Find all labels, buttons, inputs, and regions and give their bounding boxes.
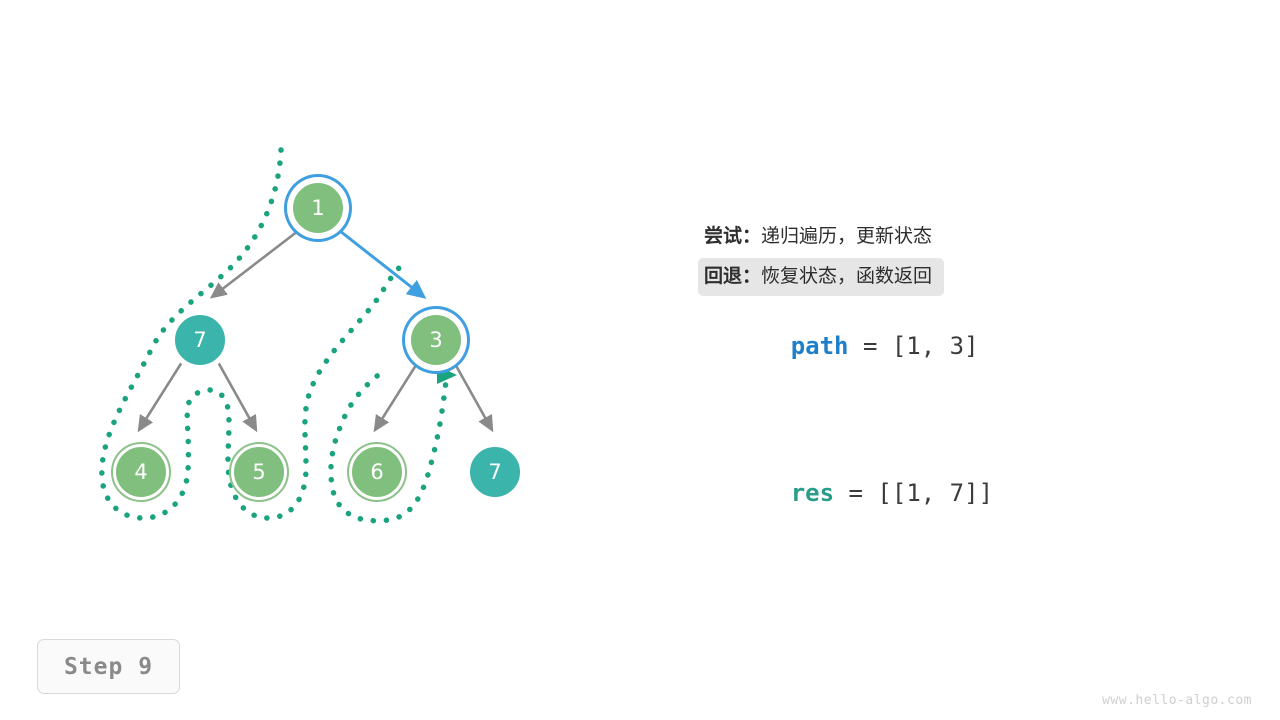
- tree-node-7-left[interactable]: 7: [172, 312, 228, 368]
- watermark-text: www.hello-algo.com: [1102, 693, 1252, 708]
- path-variable-name: path: [791, 332, 849, 360]
- edge-1-to-7: [212, 231, 298, 297]
- panel-line-try-body: 递归遍历，更新状态: [761, 225, 932, 247]
- path-state-row: path = [1, 3]: [698, 304, 1238, 388]
- tree-node-3-label: 3: [429, 330, 442, 351]
- panel-line-backtrack: 回退：恢复状态，函数返回: [698, 258, 944, 296]
- diagram-canvas: 1 7 3 4 5 6 7 尝试：递归遍历，更新状态 回退：恢复状态，函数返回 …: [0, 0, 1280, 720]
- tree-node-6[interactable]: 6: [349, 444, 405, 500]
- step-badge-label: Step 9: [64, 654, 153, 680]
- res-value: [[1, 7]]: [877, 479, 993, 507]
- tree-graphics: [0, 0, 700, 620]
- panel-line-try-prefix: 尝试：: [704, 225, 761, 247]
- res-variable-name: res: [791, 479, 834, 507]
- res-equals: =: [834, 479, 877, 507]
- panel-line-backtrack-body: 恢复状态，函数返回: [761, 265, 932, 287]
- panel-line-backtrack-prefix: 回退：: [704, 265, 761, 287]
- tree-node-4-label: 4: [134, 462, 147, 483]
- tree-node-3[interactable]: 3: [408, 312, 464, 368]
- tree-node-1[interactable]: 1: [290, 180, 346, 236]
- tree-node-7-left-label: 7: [193, 330, 206, 351]
- step-badge: Step 9: [37, 639, 180, 694]
- tree-node-6-label: 6: [370, 462, 383, 483]
- path-value: [1, 3]: [892, 332, 979, 360]
- panel-line-try: 尝试：递归遍历，更新状态: [698, 218, 944, 256]
- tree-node-4[interactable]: 4: [113, 444, 169, 500]
- tree-node-5-label: 5: [252, 462, 265, 483]
- tree-node-7-right-label: 7: [488, 462, 501, 483]
- edge-3-to-7b: [454, 362, 492, 430]
- res-state-row: res = [[1, 7]]: [698, 451, 1238, 535]
- explanation-panel: 尝试：递归遍历，更新状态 回退：恢复状态，函数返回 path = [1, 3] …: [698, 218, 1238, 535]
- watermark: www.hello-algo.com: [1102, 693, 1252, 708]
- tree-node-7-right[interactable]: 7: [467, 444, 523, 500]
- tree-node-5[interactable]: 5: [231, 444, 287, 500]
- path-equals: =: [849, 332, 892, 360]
- backtrack-cursor-triangle: [437, 366, 457, 384]
- edge-7-to-4: [139, 362, 182, 430]
- tree-node-1-label: 1: [311, 198, 324, 219]
- edge-3-to-6: [375, 362, 418, 430]
